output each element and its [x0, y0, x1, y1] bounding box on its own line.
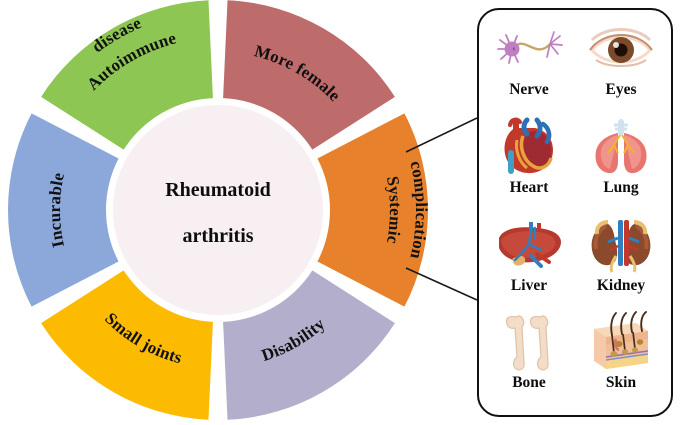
wheel-segment-systemic-complication[interactable]	[317, 113, 428, 306]
organ-item-liver: Liver	[483, 212, 575, 310]
organ-item-nerve: Nerve	[483, 16, 575, 114]
wheel-hub	[113, 105, 323, 315]
kidney-icon	[583, 214, 659, 276]
organ-label-liver: Liver	[511, 277, 547, 295]
lung-icon	[583, 116, 659, 178]
liver-icon	[491, 214, 567, 276]
organ-item-skin: Skin	[575, 309, 667, 407]
skin-icon	[583, 311, 659, 373]
bone-icon	[491, 311, 567, 373]
organ-item-heart: Heart	[483, 114, 575, 212]
organ-label-bone: Bone	[512, 374, 546, 392]
organ-item-lung: Lung	[575, 114, 667, 212]
organ-label-nerve: Nerve	[509, 81, 549, 99]
center-title-line1: Rheumatoid	[165, 179, 271, 201]
organ-item-bone: Bone	[483, 309, 575, 407]
eye-icon	[583, 18, 659, 80]
organ-label-kidney: Kidney	[597, 277, 645, 295]
heart-icon	[491, 116, 567, 178]
center-title-line2: arthritis	[182, 225, 253, 247]
nerve-icon	[491, 18, 567, 80]
wheel-svg: Rheumatoid arthritis More femaleSystemic…	[0, 0, 455, 425]
organ-label-skin: Skin	[606, 374, 636, 392]
organ-item-eyes: Eyes	[575, 16, 667, 114]
organ-label-eyes: Eyes	[606, 81, 637, 99]
organ-label-lung: Lung	[603, 179, 638, 197]
organ-item-kidney: Kidney	[575, 212, 667, 310]
rheumatoid-arthritis-figure: Rheumatoid arthritis More femaleSystemic…	[0, 0, 685, 425]
characteristics-wheel: Rheumatoid arthritis More femaleSystemic…	[0, 0, 455, 425]
organ-label-heart: Heart	[510, 179, 549, 197]
systemic-complication-panel: Nerve Eyes	[477, 8, 673, 417]
wheel-label-systemic-complication: Systemic	[383, 175, 405, 246]
